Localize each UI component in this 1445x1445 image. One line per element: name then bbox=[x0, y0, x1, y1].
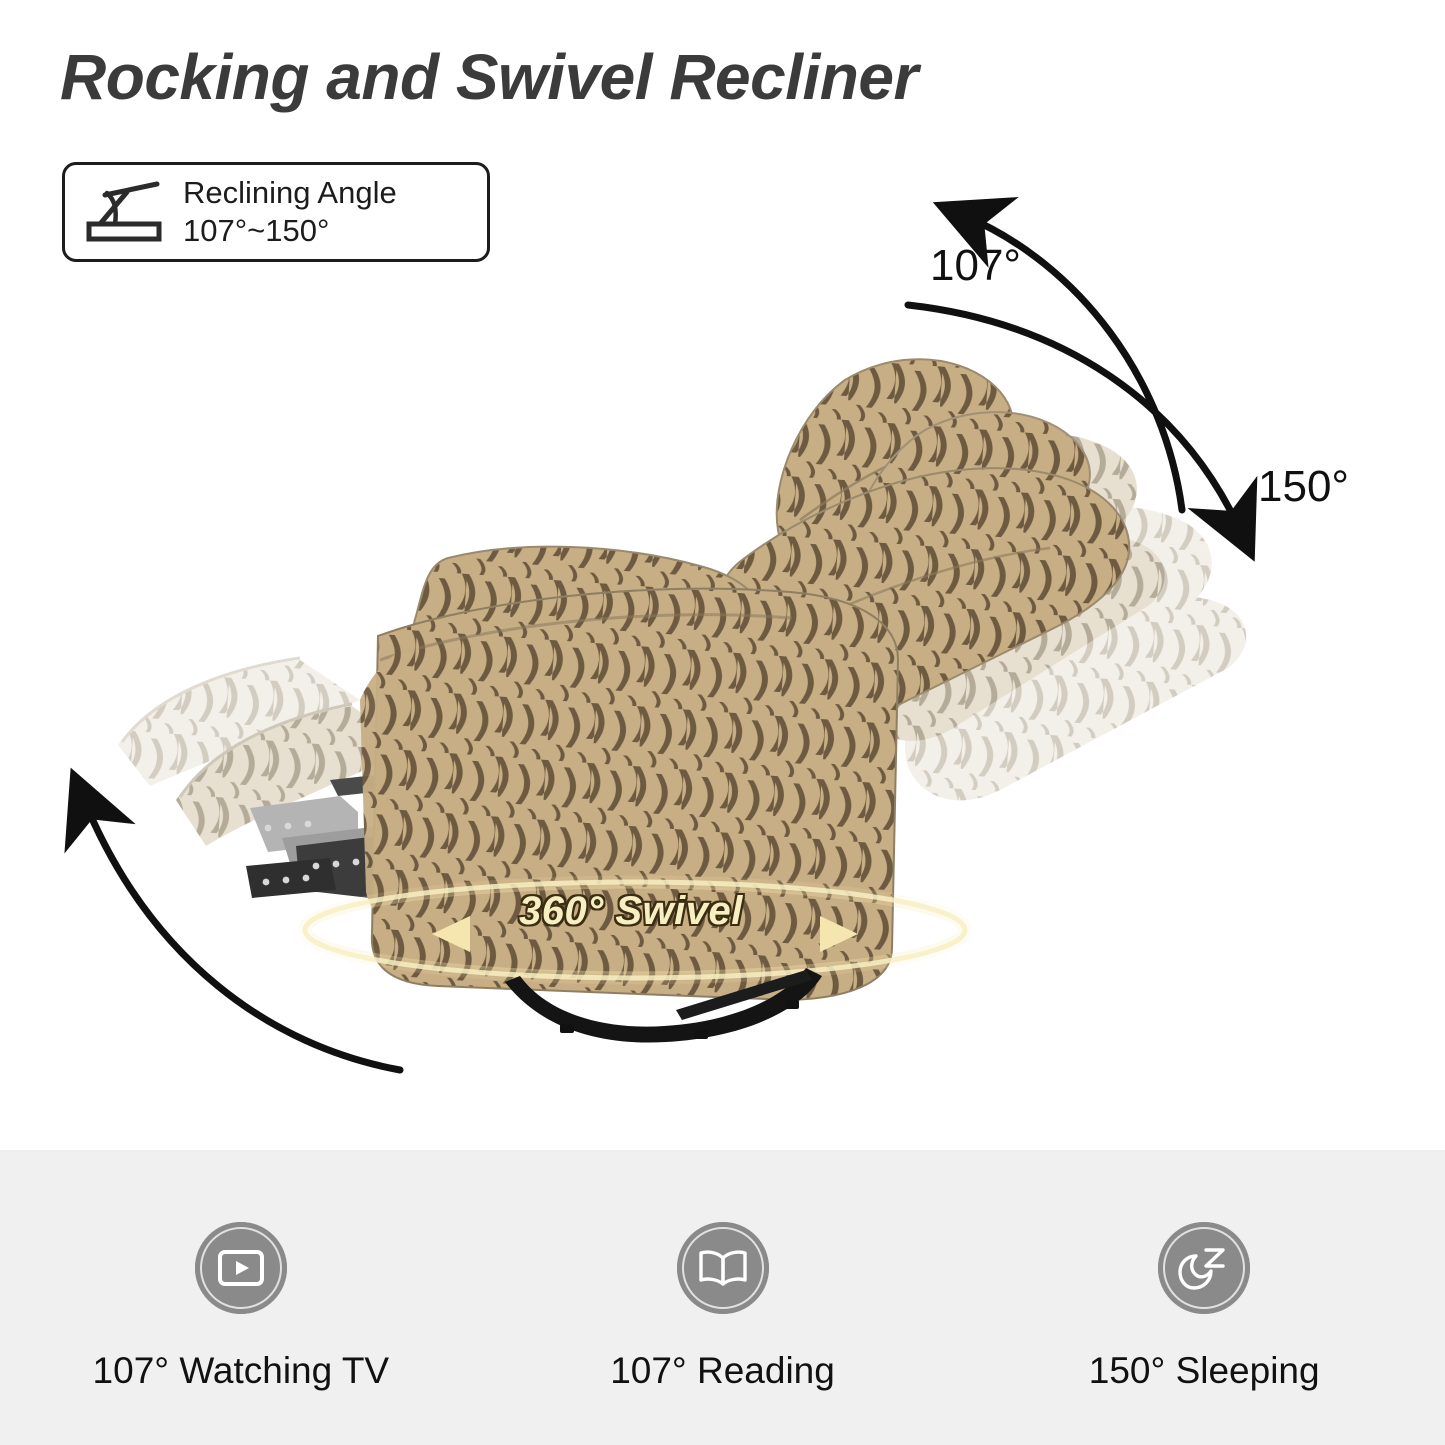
feature-label: 107° Reading bbox=[610, 1350, 835, 1392]
angle-label-107: 107° bbox=[930, 241, 1021, 291]
open-book-icon bbox=[677, 1222, 769, 1314]
moon-zzz-icon bbox=[1158, 1222, 1250, 1314]
feature-label: 150° Sleeping bbox=[1089, 1350, 1320, 1392]
feature-label: 107° Watching TV bbox=[93, 1350, 390, 1392]
tv-play-icon bbox=[195, 1222, 287, 1314]
hero-section: Rocking and Swivel Recliner Reclining An… bbox=[0, 0, 1445, 1150]
swivel-caption: 360° Swivel bbox=[519, 889, 743, 934]
feature-reading: 107° Reading bbox=[482, 1150, 964, 1392]
recliner-illustration bbox=[0, 0, 1445, 1150]
feature-watching-tv: 107° Watching TV bbox=[0, 1150, 482, 1392]
feature-strip: 107° Watching TV 107° Reading 150° Sleep… bbox=[0, 1150, 1445, 1445]
infographic-page: Rocking and Swivel Recliner Reclining An… bbox=[0, 0, 1445, 1445]
feature-sleeping: 150° Sleeping bbox=[963, 1150, 1445, 1392]
angle-label-150: 150° bbox=[1258, 462, 1349, 512]
